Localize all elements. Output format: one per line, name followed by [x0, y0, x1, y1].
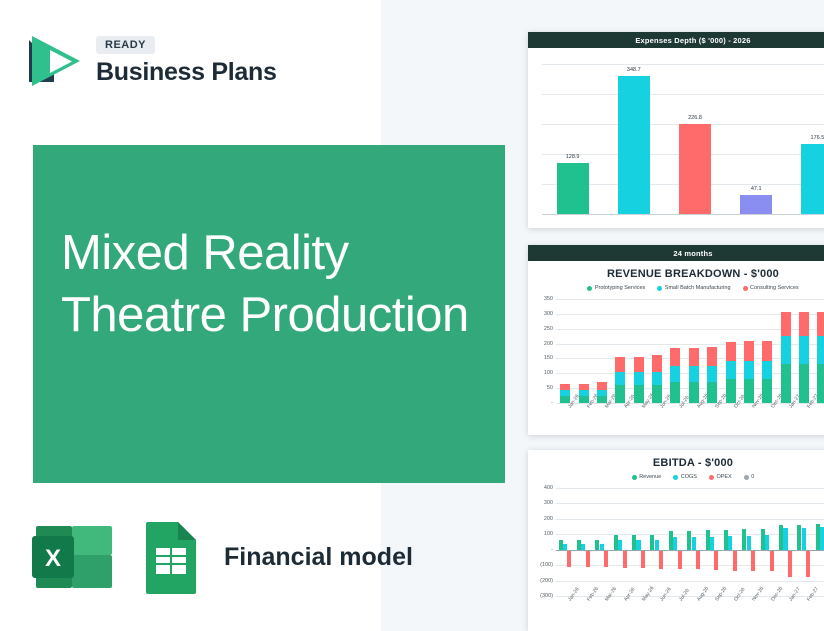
- x-axis-tick-label: Mar-26: [604, 586, 618, 602]
- bar-segment: [781, 336, 791, 364]
- microsoft-excel-icon: X: [30, 520, 118, 594]
- legend-item: COGS: [673, 474, 697, 480]
- legend-swatch-icon: [657, 286, 662, 291]
- bar-segment: [817, 364, 824, 403]
- zero-line: [556, 550, 824, 551]
- svg-text:X: X: [45, 545, 61, 572]
- gridline: [542, 64, 824, 65]
- y-axis-tick-label: 200: [544, 516, 553, 522]
- bar-segment: [781, 312, 791, 336]
- legend-swatch-icon: [744, 475, 749, 480]
- bar-segment: [615, 372, 625, 385]
- x-axis-tick-label: Nov-26: [751, 586, 765, 603]
- bar-segment: [579, 390, 589, 396]
- bar-segment: [689, 382, 699, 403]
- ebitda-chart-title: EBITDA - $'000: [528, 457, 824, 469]
- revenue-card-header: 24 months: [528, 245, 824, 261]
- legend-item: Small Batch Manufacturing: [657, 285, 730, 291]
- revenue-chart-title: REVENUE BREAKDOWN - $'000: [528, 268, 824, 280]
- bar-segment: [744, 379, 754, 403]
- bar-segment: [762, 379, 772, 403]
- y-axis-tick-label: -: [551, 547, 553, 553]
- bar-segment: [726, 379, 736, 403]
- bar: [801, 144, 824, 214]
- y-axis-tick-label: 100: [544, 531, 553, 537]
- gridline: [556, 403, 824, 404]
- y-axis-tick-label: (100): [540, 562, 553, 568]
- bar-segment: [744, 361, 754, 379]
- bar-segment: [788, 550, 792, 578]
- bar-segment: [817, 312, 824, 336]
- bar-segment: [707, 347, 717, 366]
- gridline: [556, 565, 824, 566]
- financial-model-label: Financial model: [224, 543, 413, 572]
- ready-badge: READY: [96, 36, 155, 54]
- bar-segment: [652, 355, 662, 371]
- bar-segment: [781, 364, 791, 403]
- legend-label: 0: [751, 474, 754, 480]
- legend-item: 0: [744, 474, 755, 480]
- bar-segment: [799, 364, 809, 403]
- legend-swatch-icon: [587, 286, 592, 291]
- google-sheets-icon: [140, 520, 202, 594]
- bar-segment: [689, 348, 699, 366]
- chart-card-ebitda: EBITDA - $'000 RevenueCOGSOPEX0 40030020…: [528, 450, 824, 631]
- legend-label: Consulting Services: [750, 285, 799, 291]
- x-axis-tick-label: Aug-26: [696, 586, 710, 603]
- legend-item: Revenue: [632, 474, 662, 480]
- y-axis-tick-label: 400: [544, 485, 553, 491]
- bar-segment: [733, 550, 737, 571]
- gridline: [556, 596, 824, 597]
- revenue-chart-body: REVENUE BREAKDOWN - $'000 Prototyping Se…: [528, 268, 824, 403]
- bar-segment: [770, 550, 774, 572]
- bar-segment: [634, 385, 644, 403]
- x-axis-tick-label: Jan-27: [788, 586, 802, 602]
- bar-segment: [597, 390, 607, 396]
- bar: [557, 163, 589, 214]
- x-axis-tick-label: Apr-26: [623, 587, 637, 603]
- y-axis-tick-label: 300: [544, 311, 553, 317]
- bar: [740, 195, 772, 214]
- x-axis-tick-label: Jan-26: [567, 586, 581, 602]
- bar-segment: [673, 537, 677, 549]
- bar-segment: [670, 348, 680, 366]
- y-axis-tick-label: 200: [544, 341, 553, 347]
- bar-value-label: 226.8: [688, 115, 702, 121]
- bar-segment: [586, 550, 590, 567]
- gridline: [542, 94, 824, 95]
- file-format-row: X Financial model: [30, 520, 413, 594]
- axis-baseline: [542, 214, 824, 215]
- ebitda-chart-body: EBITDA - $'000 RevenueCOGSOPEX0 40030020…: [528, 457, 824, 596]
- ebitda-legend: RevenueCOGSOPEX0: [528, 474, 824, 480]
- bar-segment: [636, 540, 640, 549]
- bar-segment: [783, 528, 787, 550]
- bar-segment: [670, 366, 680, 382]
- bar-segment: [655, 540, 659, 550]
- gridline: [556, 488, 824, 489]
- bar-segment: [692, 537, 696, 549]
- bar-segment: [634, 372, 644, 385]
- y-axis-tick-label: 150: [544, 355, 553, 361]
- bar-segment: [799, 336, 809, 364]
- revenue-legend: Prototyping ServicesSmall Batch Manufact…: [528, 285, 824, 291]
- page-title: Mixed Reality Theatre Production: [61, 222, 491, 346]
- bar-segment: [670, 382, 680, 403]
- chart-card-revenue: 24 months REVENUE BREAKDOWN - $'000 Prot…: [528, 245, 824, 435]
- gridline: [556, 519, 824, 520]
- bar-segment: [762, 361, 772, 379]
- bar-segment: [597, 382, 607, 389]
- bar-segment: [696, 550, 700, 570]
- bar-segment: [751, 550, 755, 571]
- y-axis-tick-label: 350: [544, 296, 553, 302]
- legend-item: Prototyping Services: [587, 285, 645, 291]
- bar-segment: [817, 336, 824, 364]
- bar-segment: [765, 535, 769, 550]
- y-axis-tick-label: 250: [544, 326, 553, 332]
- bar-segment: [714, 550, 718, 570]
- legend-label: Revenue: [639, 474, 661, 480]
- bar-segment: [707, 366, 717, 382]
- bar-segment: [567, 550, 571, 567]
- bar-segment: [710, 537, 714, 550]
- bar-segment: [806, 550, 810, 578]
- x-axis-tick-label: Feb-27: [806, 586, 820, 602]
- bar-segment: [820, 527, 824, 549]
- bar-value-label: 348.7: [627, 67, 641, 73]
- legend-label: COGS: [681, 474, 697, 480]
- bar-segment: [747, 536, 751, 550]
- bar-value-label: 47.1: [751, 186, 762, 192]
- x-axis-tick-label: Jun-26: [659, 586, 673, 602]
- brand-name: Business Plans: [96, 58, 277, 87]
- bar-segment: [623, 550, 627, 569]
- chart-card-expenses: Expenses Depth ($ '000) - 2026 128.9348.…: [528, 32, 824, 228]
- gridline: [556, 581, 824, 582]
- bar-segment: [615, 385, 625, 403]
- x-axis-tick-label: Feb-26: [586, 586, 600, 602]
- bar-segment: [652, 385, 662, 403]
- x-axis-tick-label: Oct-26: [733, 587, 747, 603]
- x-axis-tick-label: May-26: [641, 585, 655, 602]
- bar-value-label: 128.9: [566, 154, 580, 160]
- y-axis-tick-label: 100: [544, 370, 553, 376]
- bar-segment: [678, 550, 682, 570]
- expenses-chart-body: 128.9348.7226.847.1176.5: [528, 64, 824, 214]
- bar-segment: [615, 357, 625, 372]
- legend-item: OPEX: [709, 474, 732, 480]
- bar-segment: [762, 341, 772, 362]
- y-axis-tick-label: 300: [544, 500, 553, 506]
- bar-segment: [618, 540, 622, 549]
- gridline: [556, 503, 824, 504]
- bar-segment: [659, 550, 663, 569]
- y-axis-tick-label: -: [551, 400, 553, 406]
- x-axis-tick-label: Dec-26: [770, 586, 784, 603]
- play-triangle-icon: [24, 30, 86, 92]
- legend-label: OPEX: [716, 474, 731, 480]
- bar-segment: [726, 361, 736, 379]
- bar-segment: [579, 384, 589, 390]
- bar-segment: [560, 390, 570, 396]
- brand-text: READY Business Plans: [96, 35, 277, 87]
- bar-segment: [652, 372, 662, 385]
- bar-segment: [641, 550, 645, 569]
- bar-segment: [802, 528, 806, 550]
- bar-segment: [560, 384, 570, 390]
- legend-swatch-icon: [709, 475, 714, 480]
- bar-value-label: 176.5: [811, 135, 824, 141]
- y-axis-tick-label: 50: [547, 385, 553, 391]
- bar: [618, 76, 650, 214]
- legend-item: Consulting Services: [743, 285, 799, 291]
- bar: [679, 124, 711, 214]
- y-axis-tick-label: (200): [540, 578, 553, 584]
- bar-segment: [707, 382, 717, 403]
- legend-label: Prototyping Services: [595, 285, 645, 291]
- bar-segment: [604, 550, 608, 567]
- gridline: [556, 299, 824, 300]
- legend-label: Small Batch Manufacturing: [665, 285, 731, 291]
- bar-segment: [689, 366, 699, 382]
- bar-segment: [744, 341, 754, 362]
- expenses-card-header: Expenses Depth ($ '000) - 2026: [528, 32, 824, 48]
- y-axis-tick-label: (300): [540, 593, 553, 599]
- bar-segment: [726, 342, 736, 361]
- x-axis-tick-label: Sep-26: [714, 586, 728, 603]
- legend-swatch-icon: [743, 286, 748, 291]
- bar-segment: [634, 357, 644, 372]
- bar-segment: [728, 536, 732, 550]
- brand-logo: READY Business Plans: [24, 30, 277, 92]
- legend-swatch-icon: [673, 475, 678, 480]
- legend-swatch-icon: [632, 475, 637, 480]
- bar-segment: [799, 312, 809, 336]
- bar-segment: [579, 396, 589, 403]
